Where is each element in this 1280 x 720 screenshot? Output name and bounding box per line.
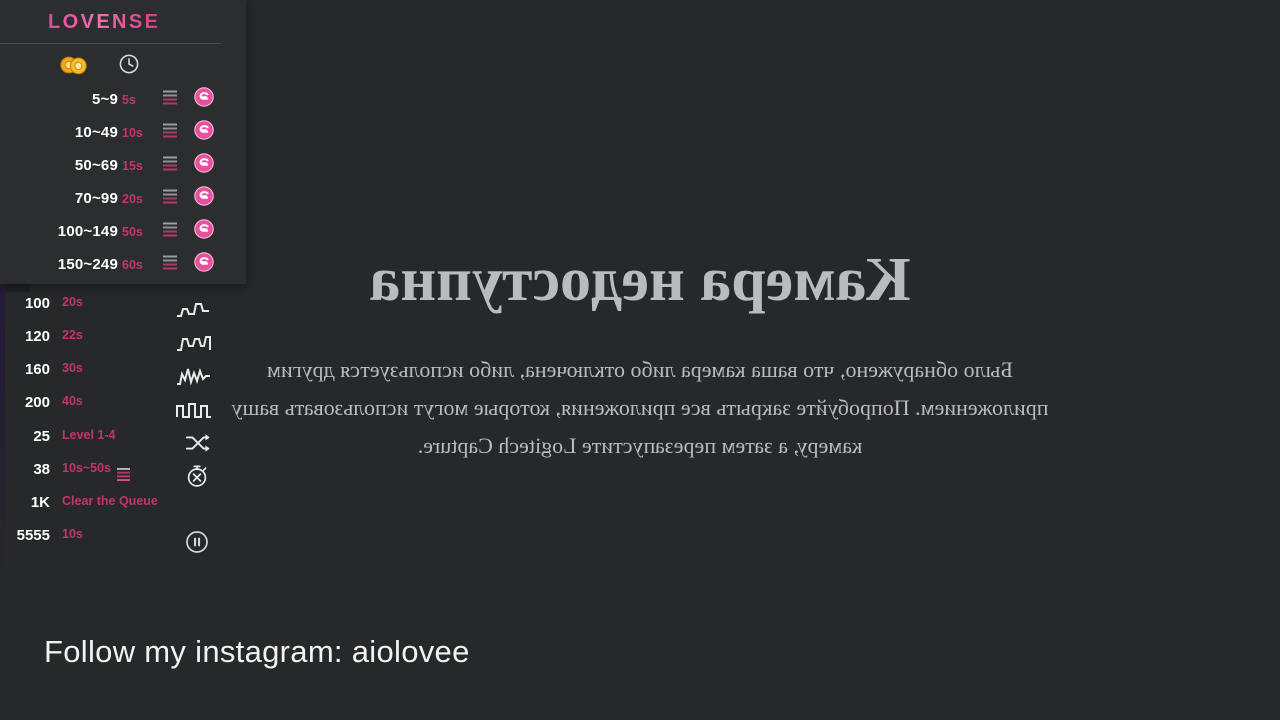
- lovense-tip-panel: LOVENSE 5~95s10~4910s50~6915s70~9920s100…: [0, 0, 246, 284]
- pattern-amount: 200: [0, 394, 50, 411]
- camera-error-line-2: приложением. Попробуйте закрыть все прил…: [231, 389, 1048, 427]
- tip-tier-amount: 5~9: [0, 91, 118, 108]
- pattern-reward-row[interactable]: 555510s: [0, 527, 250, 560]
- tip-tier-duration: 15s: [122, 159, 156, 173]
- shuffle-icon[interactable]: [185, 431, 209, 455]
- camera-error-message: Было обнаружено, что ваша камера либо от…: [231, 351, 1048, 464]
- panel-column-header: [0, 50, 246, 82]
- tip-tier-row[interactable]: 50~6915s: [0, 149, 246, 182]
- pattern-amount: 120: [0, 328, 50, 345]
- lovense-toy-icon[interactable]: [194, 219, 214, 239]
- panel-divider: [0, 43, 222, 44]
- tip-tier-amount: 10~49: [0, 124, 118, 141]
- pattern-label: Level 1-4: [62, 428, 116, 442]
- tip-tier-row[interactable]: 70~9920s: [0, 182, 246, 215]
- pattern-reward-row[interactable]: 1KClear the Queue: [0, 494, 250, 527]
- lovense-toy-icon[interactable]: [194, 87, 214, 107]
- clock-icon: [118, 53, 140, 75]
- pulse-pattern-icon[interactable]: [176, 331, 220, 357]
- lovense-logo: LOVENSE: [48, 11, 160, 34]
- tip-tier-amount: 100~149: [0, 223, 118, 240]
- lovense-toy-icon[interactable]: [194, 120, 214, 140]
- camera-error-line-1: Было обнаружено, что ваша камера либо от…: [231, 351, 1048, 389]
- tip-tier-duration: 60s: [122, 258, 156, 272]
- pattern-label: Clear the Queue: [62, 494, 158, 508]
- pattern-amount: 38: [0, 461, 50, 478]
- level-bars-icon[interactable]: [163, 222, 177, 238]
- coins-icon: [60, 53, 88, 77]
- level-bars-icon[interactable]: [163, 189, 177, 205]
- pause-circle-icon[interactable]: [185, 530, 209, 554]
- tip-tier-row[interactable]: 100~14950s: [0, 215, 246, 248]
- instagram-handle-banner: Follow my instagram: aiolovee: [44, 634, 470, 670]
- tip-tier-duration: 50s: [122, 225, 156, 239]
- level-bars-icon[interactable]: [163, 255, 177, 271]
- tip-tier-row[interactable]: 150~24960s: [0, 248, 246, 281]
- pattern-reward-row[interactable]: 16030s: [0, 361, 250, 394]
- pattern-label: 40s: [62, 394, 83, 408]
- pattern-amount: 160: [0, 361, 50, 378]
- pattern-reward-row[interactable]: 3810s~50s: [0, 461, 250, 494]
- pattern-amount: 100: [0, 295, 50, 312]
- level-bars-icon[interactable]: [163, 156, 177, 172]
- camera-error-line-3: камеру, а затем перезапустите Logitech C…: [231, 427, 1048, 465]
- tip-tier-amount: 50~69: [0, 157, 118, 174]
- camera-error-title: Камера недоступна: [369, 248, 910, 313]
- lovense-toy-icon[interactable]: [194, 186, 214, 206]
- tip-tier-amount: 150~249: [0, 256, 118, 273]
- pattern-label: 10s: [62, 527, 83, 541]
- earthquake-icon[interactable]: [176, 364, 220, 390]
- wave-pattern-icon[interactable]: [176, 298, 220, 324]
- pattern-reward-row[interactable]: 20040s: [0, 394, 250, 427]
- pattern-reward-row[interactable]: 10020s: [0, 295, 250, 328]
- pattern-label: 10s~50s: [62, 461, 111, 475]
- level-bars-icon[interactable]: [117, 468, 130, 483]
- tip-tier-duration: 20s: [122, 192, 156, 206]
- pattern-amount: 25: [0, 428, 50, 445]
- tip-tier-duration: 5s: [122, 93, 156, 107]
- square-wave-icon[interactable]: [176, 397, 220, 423]
- tip-tier-duration: 10s: [122, 126, 156, 140]
- random-timer-icon[interactable]: [185, 464, 209, 488]
- pattern-amount: 1K: [0, 494, 50, 511]
- lovense-toy-icon[interactable]: [194, 252, 214, 272]
- pattern-reward-row[interactable]: 25Level 1-4: [0, 428, 250, 461]
- lovense-toy-icon[interactable]: [194, 153, 214, 173]
- pattern-label: 30s: [62, 361, 83, 375]
- tip-tier-amount: 70~99: [0, 190, 118, 207]
- tip-tier-row[interactable]: 5~95s: [0, 83, 246, 116]
- pattern-label: 22s: [62, 328, 83, 342]
- pattern-amount: 5555: [0, 527, 50, 544]
- level-bars-icon[interactable]: [163, 123, 177, 139]
- pattern-reward-row[interactable]: 12022s: [0, 328, 250, 361]
- level-bars-icon[interactable]: [163, 90, 177, 106]
- tip-tier-row[interactable]: 10~4910s: [0, 116, 246, 149]
- pattern-label: 20s: [62, 295, 83, 309]
